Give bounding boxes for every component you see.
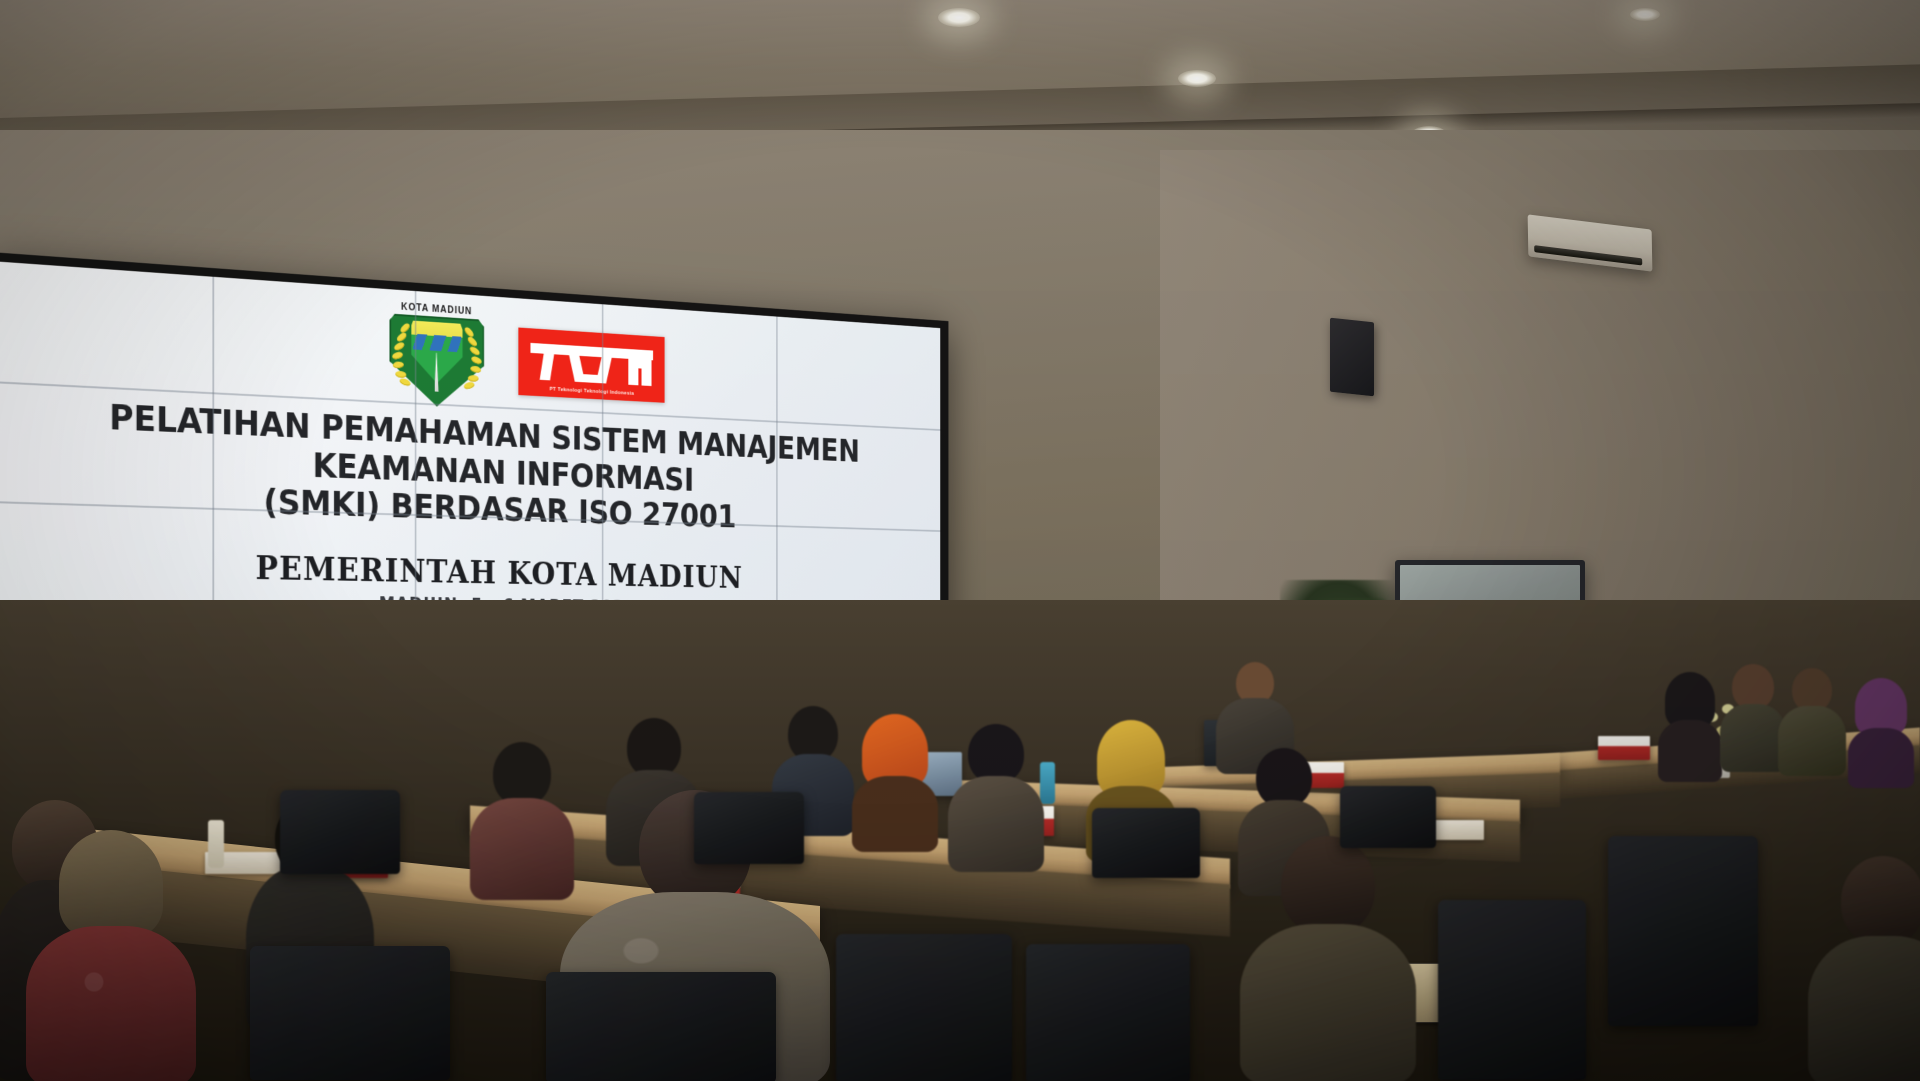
seminar-room-photo: KOTA MADIUN xyxy=(0,0,1920,1081)
office-chair xyxy=(694,792,804,864)
tati-glyph xyxy=(641,360,651,386)
torso xyxy=(1808,936,1920,1081)
ceiling-downlight xyxy=(1630,8,1660,21)
hijab xyxy=(59,830,163,938)
water-bottle xyxy=(208,820,224,868)
torso xyxy=(1658,720,1722,782)
torso xyxy=(1848,728,1914,788)
torso xyxy=(852,776,938,852)
head xyxy=(1281,836,1375,936)
head xyxy=(1841,856,1920,946)
participant xyxy=(1808,856,1920,1081)
head xyxy=(968,724,1024,784)
torso xyxy=(470,798,574,900)
office-chair xyxy=(1608,836,1758,1026)
wall-speaker xyxy=(1330,318,1374,397)
torso xyxy=(1778,706,1846,776)
tati-wordmark-icon xyxy=(530,343,653,390)
tati-glyph xyxy=(578,374,603,384)
kota-madiun-emblem: KOTA MADIUN xyxy=(382,301,490,411)
ceiling-downlight xyxy=(1178,70,1216,87)
head xyxy=(493,742,551,806)
slide-title: PELATIHAN PEMAHAMAN SISTEM MANAJEMEN KEA… xyxy=(0,393,940,542)
torso xyxy=(1720,704,1786,772)
torso xyxy=(1240,924,1416,1081)
emblem-rice-stalk xyxy=(391,322,413,389)
participant xyxy=(1720,664,1786,760)
emblem-mountain-motif xyxy=(413,334,461,353)
tati-logo: PT Teknologi Teknologi Indonesia xyxy=(518,327,664,402)
office-chair xyxy=(836,934,1012,1081)
office-chair xyxy=(1026,944,1190,1081)
participant xyxy=(470,742,574,892)
participant xyxy=(1778,668,1846,764)
emblem-rice-stalk xyxy=(461,327,482,393)
participant-orange-hijab xyxy=(852,714,938,840)
office-chair xyxy=(1340,786,1436,848)
office-chair xyxy=(1438,900,1586,1080)
ceiling-downlight xyxy=(938,8,980,27)
office-chair xyxy=(1092,808,1200,878)
office-chair xyxy=(546,972,776,1081)
head xyxy=(627,718,681,778)
torso xyxy=(948,776,1044,872)
tati-glyph xyxy=(539,354,553,381)
office-chair xyxy=(280,790,400,874)
participant-purple-hijab xyxy=(1848,678,1914,772)
office-chair xyxy=(250,946,450,1080)
participant xyxy=(948,724,1044,864)
torso xyxy=(26,926,196,1081)
participant-red-batik xyxy=(26,830,196,1080)
name-card xyxy=(1598,736,1650,760)
participant xyxy=(1240,836,1416,1081)
participant xyxy=(1658,672,1722,764)
head xyxy=(1256,748,1312,808)
